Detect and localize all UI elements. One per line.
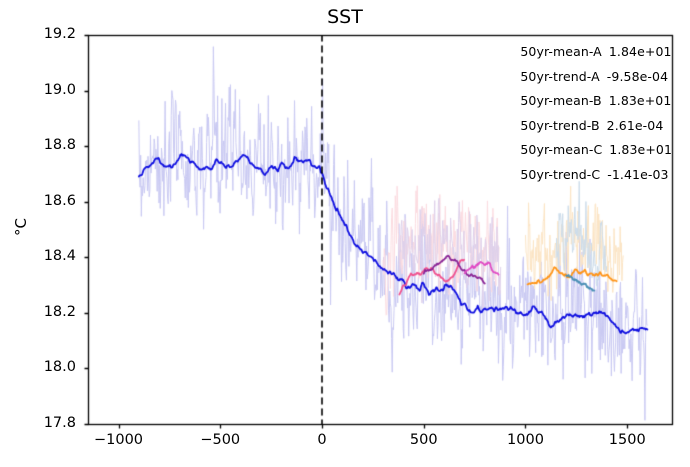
legend-stat-value: 1.83e+01 [609,142,672,157]
legend-stat-name: 50yr-mean-A [520,44,602,59]
x-tick-label: 500 [379,432,469,448]
legend-row: 50yr-mean-A1.84e+01 [520,44,672,59]
legend-row: 50yr-mean-B1.83e+01 [520,93,672,108]
legend-stat-value: 1.84e+01 [609,44,672,59]
legend-row: 50yr-mean-C1.83e+01 [520,142,672,157]
chart-title: SST [0,6,690,28]
legend-stat-name: 50yr-trend-C [520,167,600,182]
x-tick-label: −500 [175,432,265,448]
legend-stat-value: -9.58e-04 [607,69,668,84]
legend-stat-name: 50yr-trend-B [520,118,599,133]
legend-stat-name: 50yr-mean-B [520,93,601,108]
legend-stat-value: -1.41e-03 [607,167,668,182]
x-tick-label: 1000 [480,432,570,448]
x-tick-label: 1500 [582,432,672,448]
stats-legend: 50yr-mean-A1.84e+0150yr-trend-A-9.58e-04… [520,44,672,191]
y-tick-label: 18.0 [14,359,76,375]
x-tick-label: −1000 [74,432,164,448]
y-tick-label: 18.8 [14,137,76,153]
legend-row: 50yr-trend-A-9.58e-04 [520,69,672,84]
y-tick-label: 18.2 [14,304,76,320]
y-tick-label: 18.4 [14,248,76,264]
legend-stat-name: 50yr-mean-C [520,142,602,157]
legend-row: 50yr-trend-B2.61e-04 [520,118,672,133]
legend-row: 50yr-trend-C-1.41e-03 [520,167,672,182]
y-tick-label: 19.2 [14,26,76,42]
sst-figure: SST °C 19.219.018.818.618.418.218.017.8 … [0,0,690,467]
y-tick-label: 19.0 [14,82,76,98]
y-tick-label: 17.8 [14,415,76,431]
legend-stat-value: 2.61e-04 [607,118,664,133]
x-tick-label: 0 [277,432,367,448]
legend-stat-value: 1.83e+01 [609,93,672,108]
legend-stat-name: 50yr-trend-A [520,69,599,84]
y-tick-label: 18.6 [14,193,76,209]
